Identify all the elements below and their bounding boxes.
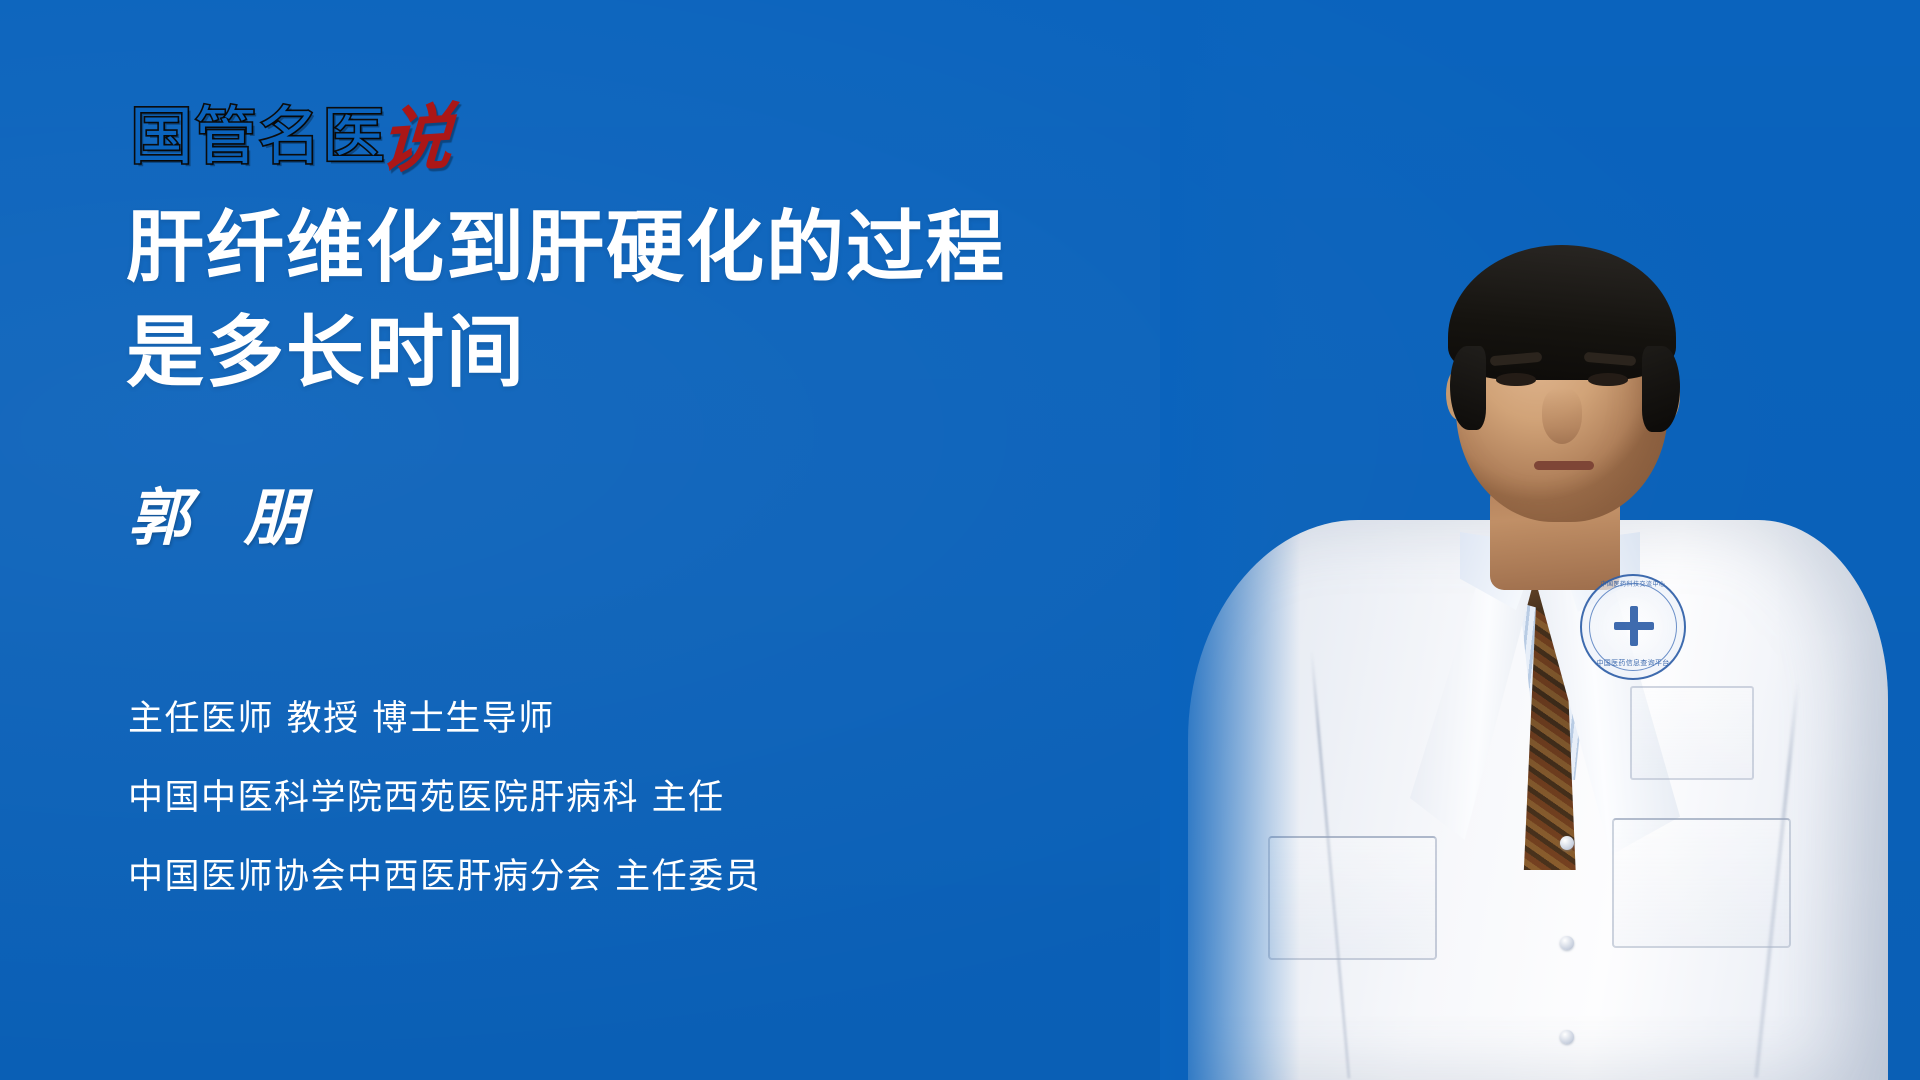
hair-side-left: [1450, 346, 1486, 430]
hair-side-right: [1642, 346, 1680, 432]
headline-block: 肝纤维化到肝硬化的过程 是多长时间: [126, 196, 1126, 405]
doctor-portrait: 中国医药科技交流中心 中国医药信息查询平台: [1160, 0, 1920, 1080]
credential-line-1: 主任医师 教授 博士生导师: [128, 702, 761, 737]
badge-bottom-text: 中国医药信息查询平台: [1580, 658, 1686, 668]
speaker-name: 郭 朋: [128, 467, 322, 557]
eye-left: [1496, 373, 1536, 386]
badge-top-text: 中国医药科技交流中心: [1580, 579, 1686, 588]
credential-line-3: 中国医师协会中西医肝病分会 主任委员: [128, 860, 761, 895]
nose: [1542, 388, 1582, 444]
coat-pocket-right: [1612, 818, 1791, 948]
hospital-badge: 中国医药科技交流中心 中国医药信息查询平台: [1580, 574, 1686, 680]
coat-button-2: [1560, 936, 1574, 950]
speaker-credentials: 主任医师 教授 博士生导师 中国中医科学院西苑医院肝病科 主任 中国医师协会中西…: [128, 702, 761, 895]
video-cover-slide: 国管名医 说 肝纤维化到肝硬化的过程 是多长时间 郭 朋 主任医师 教授 博士生…: [0, 0, 1920, 1080]
credential-line-2: 中国中医科学院西苑医院肝病科 主任: [128, 781, 761, 816]
program-logo-accent-text: 说: [378, 103, 454, 174]
headline-line-1: 肝纤维化到肝硬化的过程: [126, 196, 1126, 301]
coat-button-1: [1560, 836, 1574, 850]
program-logo-main-text: 国管名医: [130, 105, 386, 168]
eye-right: [1588, 373, 1628, 386]
coat-pocket-left: [1268, 836, 1437, 960]
coat-button-3: [1560, 1030, 1574, 1044]
mouth: [1534, 461, 1594, 470]
coat-chest-pocket: [1630, 686, 1754, 780]
medical-cross-icon-bar: [1614, 622, 1654, 630]
headline-line-2: 是多长时间: [126, 301, 1126, 406]
program-logo: 国管名医 说: [130, 94, 452, 168]
